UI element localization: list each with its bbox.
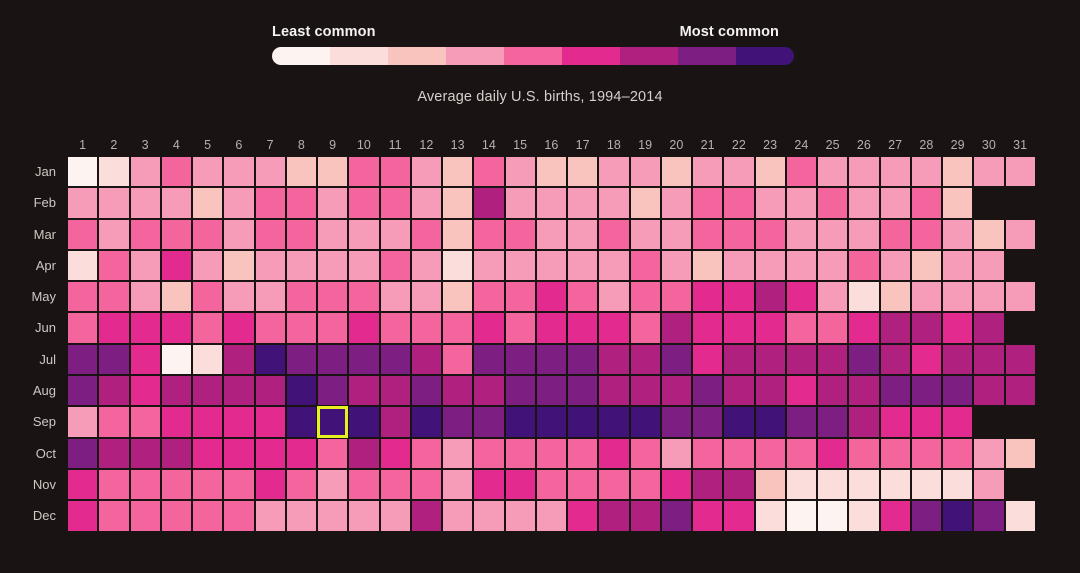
heatmap-cell-jun-2[interactable] xyxy=(98,312,129,343)
heatmap-cell-sep-15[interactable] xyxy=(505,406,536,437)
heatmap-cell-aug-11[interactable] xyxy=(380,375,411,406)
heatmap-cell-jan-26[interactable] xyxy=(848,156,879,187)
heatmap-cell-aug-30[interactable] xyxy=(973,375,1004,406)
heatmap-cell-aug-5[interactable] xyxy=(192,375,223,406)
heatmap-cell-mar-23[interactable] xyxy=(755,219,786,250)
heatmap-cell-aug-19[interactable] xyxy=(630,375,661,406)
heatmap-cell-mar-12[interactable] xyxy=(411,219,442,250)
heatmap-cell-jan-18[interactable] xyxy=(598,156,629,187)
heatmap-cell-jan-25[interactable] xyxy=(817,156,848,187)
heatmap-cell-dec-27[interactable] xyxy=(880,500,911,531)
heatmap-cell-jun-4[interactable] xyxy=(161,312,192,343)
heatmap-cell-jun-27[interactable] xyxy=(880,312,911,343)
heatmap-cell-apr-3[interactable] xyxy=(130,250,161,281)
heatmap-cell-jul-16[interactable] xyxy=(536,344,567,375)
heatmap-cell-jan-4[interactable] xyxy=(161,156,192,187)
heatmap-cell-feb-28[interactable] xyxy=(911,187,942,218)
heatmap-cell-jul-30[interactable] xyxy=(973,344,1004,375)
heatmap-cell-oct-13[interactable] xyxy=(442,438,473,469)
heatmap-cell-jun-16[interactable] xyxy=(536,312,567,343)
heatmap-cell-mar-8[interactable] xyxy=(286,219,317,250)
heatmap-cell-aug-22[interactable] xyxy=(723,375,754,406)
heatmap-cell-oct-3[interactable] xyxy=(130,438,161,469)
heatmap-cell-apr-20[interactable] xyxy=(661,250,692,281)
heatmap-cell-jun-30[interactable] xyxy=(973,312,1004,343)
heatmap-cell-nov-19[interactable] xyxy=(630,469,661,500)
heatmap-cell-mar-7[interactable] xyxy=(255,219,286,250)
heatmap-cell-mar-28[interactable] xyxy=(911,219,942,250)
heatmap-cell-sep-25[interactable] xyxy=(817,406,848,437)
heatmap-cell-apr-25[interactable] xyxy=(817,250,848,281)
heatmap-cell-mar-20[interactable] xyxy=(661,219,692,250)
heatmap-cell-apr-16[interactable] xyxy=(536,250,567,281)
heatmap-cell-nov-25[interactable] xyxy=(817,469,848,500)
heatmap-cell-dec-13[interactable] xyxy=(442,500,473,531)
heatmap-cell-may-25[interactable] xyxy=(817,281,848,312)
heatmap-cell-oct-27[interactable] xyxy=(880,438,911,469)
heatmap-cell-jun-11[interactable] xyxy=(380,312,411,343)
heatmap-cell-aug-13[interactable] xyxy=(442,375,473,406)
heatmap-cell-dec-9[interactable] xyxy=(317,500,348,531)
heatmap-cell-jul-18[interactable] xyxy=(598,344,629,375)
heatmap-cell-nov-29[interactable] xyxy=(942,469,973,500)
heatmap-cell-oct-22[interactable] xyxy=(723,438,754,469)
heatmap-cell-apr-1[interactable] xyxy=(67,250,98,281)
heatmap-cell-mar-19[interactable] xyxy=(630,219,661,250)
heatmap-cell-dec-19[interactable] xyxy=(630,500,661,531)
heatmap-cell-dec-26[interactable] xyxy=(848,500,879,531)
heatmap-cell-feb-17[interactable] xyxy=(567,187,598,218)
heatmap-cell-nov-5[interactable] xyxy=(192,469,223,500)
heatmap-cell-nov-3[interactable] xyxy=(130,469,161,500)
heatmap-cell-apr-9[interactable] xyxy=(317,250,348,281)
heatmap-cell-jun-10[interactable] xyxy=(348,312,379,343)
heatmap-cell-aug-3[interactable] xyxy=(130,375,161,406)
heatmap-cell-dec-30[interactable] xyxy=(973,500,1004,531)
heatmap-cell-feb-7[interactable] xyxy=(255,187,286,218)
heatmap-cell-jun-26[interactable] xyxy=(848,312,879,343)
heatmap-cell-jul-7[interactable] xyxy=(255,344,286,375)
heatmap-cell-sep-24[interactable] xyxy=(786,406,817,437)
heatmap-cell-aug-16[interactable] xyxy=(536,375,567,406)
heatmap-cell-oct-4[interactable] xyxy=(161,438,192,469)
heatmap-cell-jun-9[interactable] xyxy=(317,312,348,343)
heatmap-cell-nov-27[interactable] xyxy=(880,469,911,500)
heatmap-cell-dec-20[interactable] xyxy=(661,500,692,531)
heatmap-cell-dec-5[interactable] xyxy=(192,500,223,531)
heatmap-cell-oct-28[interactable] xyxy=(911,438,942,469)
heatmap-cell-feb-15[interactable] xyxy=(505,187,536,218)
heatmap-cell-dec-6[interactable] xyxy=(223,500,254,531)
heatmap-cell-dec-22[interactable] xyxy=(723,500,754,531)
heatmap-cell-dec-28[interactable] xyxy=(911,500,942,531)
heatmap-cell-jul-6[interactable] xyxy=(223,344,254,375)
heatmap-cell-jan-30[interactable] xyxy=(973,156,1004,187)
heatmap-cell-sep-27[interactable] xyxy=(880,406,911,437)
heatmap-cell-jan-8[interactable] xyxy=(286,156,317,187)
heatmap-cell-sep-10[interactable] xyxy=(348,406,379,437)
heatmap-cell-may-11[interactable] xyxy=(380,281,411,312)
heatmap-cell-apr-2[interactable] xyxy=(98,250,129,281)
heatmap-cell-oct-31[interactable] xyxy=(1005,438,1036,469)
heatmap-cell-sep-22[interactable] xyxy=(723,406,754,437)
heatmap-cell-jun-15[interactable] xyxy=(505,312,536,343)
heatmap-cell-sep-1[interactable] xyxy=(67,406,98,437)
heatmap-cell-mar-3[interactable] xyxy=(130,219,161,250)
heatmap-cell-oct-21[interactable] xyxy=(692,438,723,469)
heatmap-cell-sep-17[interactable] xyxy=(567,406,598,437)
heatmap-cell-feb-5[interactable] xyxy=(192,187,223,218)
heatmap-cell-may-6[interactable] xyxy=(223,281,254,312)
heatmap-cell-aug-8[interactable] xyxy=(286,375,317,406)
heatmap-cell-nov-9[interactable] xyxy=(317,469,348,500)
heatmap-cell-oct-17[interactable] xyxy=(567,438,598,469)
heatmap-cell-may-31[interactable] xyxy=(1005,281,1036,312)
heatmap-cell-jun-29[interactable] xyxy=(942,312,973,343)
heatmap-cell-apr-17[interactable] xyxy=(567,250,598,281)
heatmap-cell-nov-4[interactable] xyxy=(161,469,192,500)
heatmap-cell-jun-8[interactable] xyxy=(286,312,317,343)
heatmap-cell-oct-29[interactable] xyxy=(942,438,973,469)
heatmap-cell-sep-23[interactable] xyxy=(755,406,786,437)
heatmap-cell-feb-16[interactable] xyxy=(536,187,567,218)
heatmap-cell-nov-10[interactable] xyxy=(348,469,379,500)
heatmap-cell-jul-21[interactable] xyxy=(692,344,723,375)
heatmap-cell-apr-10[interactable] xyxy=(348,250,379,281)
heatmap-cell-aug-25[interactable] xyxy=(817,375,848,406)
heatmap-cell-aug-2[interactable] xyxy=(98,375,129,406)
heatmap-cell-jul-22[interactable] xyxy=(723,344,754,375)
heatmap-cell-may-15[interactable] xyxy=(505,281,536,312)
heatmap-cell-sep-5[interactable] xyxy=(192,406,223,437)
heatmap-cell-aug-24[interactable] xyxy=(786,375,817,406)
heatmap-cell-sep-28[interactable] xyxy=(911,406,942,437)
heatmap-cell-sep-13[interactable] xyxy=(442,406,473,437)
heatmap-cell-mar-11[interactable] xyxy=(380,219,411,250)
heatmap-cell-jun-6[interactable] xyxy=(223,312,254,343)
heatmap-cell-nov-18[interactable] xyxy=(598,469,629,500)
heatmap-cell-sep-12[interactable] xyxy=(411,406,442,437)
heatmap-cell-dec-15[interactable] xyxy=(505,500,536,531)
heatmap-cell-nov-23[interactable] xyxy=(755,469,786,500)
heatmap-cell-jan-19[interactable] xyxy=(630,156,661,187)
heatmap-cell-feb-20[interactable] xyxy=(661,187,692,218)
heatmap-cell-feb-9[interactable] xyxy=(317,187,348,218)
heatmap-cell-jul-29[interactable] xyxy=(942,344,973,375)
heatmap-cell-dec-31[interactable] xyxy=(1005,500,1036,531)
heatmap-cell-mar-17[interactable] xyxy=(567,219,598,250)
heatmap-cell-dec-1[interactable] xyxy=(67,500,98,531)
heatmap-cell-mar-30[interactable] xyxy=(973,219,1004,250)
heatmap-cell-nov-6[interactable] xyxy=(223,469,254,500)
heatmap-cell-jul-11[interactable] xyxy=(380,344,411,375)
heatmap-cell-dec-24[interactable] xyxy=(786,500,817,531)
heatmap-cell-highlighted[interactable] xyxy=(317,406,348,437)
heatmap-cell-may-3[interactable] xyxy=(130,281,161,312)
heatmap-cell-feb-6[interactable] xyxy=(223,187,254,218)
heatmap-cell-jan-21[interactable] xyxy=(692,156,723,187)
heatmap-cell-oct-10[interactable] xyxy=(348,438,379,469)
heatmap-cell-jul-26[interactable] xyxy=(848,344,879,375)
heatmap-cell-dec-7[interactable] xyxy=(255,500,286,531)
heatmap-cell-mar-29[interactable] xyxy=(942,219,973,250)
heatmap-cell-aug-14[interactable] xyxy=(473,375,504,406)
heatmap-cell-jan-12[interactable] xyxy=(411,156,442,187)
heatmap-cell-apr-21[interactable] xyxy=(692,250,723,281)
heatmap-cell-jan-2[interactable] xyxy=(98,156,129,187)
heatmap-cell-mar-14[interactable] xyxy=(473,219,504,250)
heatmap-cell-may-1[interactable] xyxy=(67,281,98,312)
heatmap-cell-apr-27[interactable] xyxy=(880,250,911,281)
heatmap-cell-feb-29[interactable] xyxy=(942,187,973,218)
heatmap-cell-jun-21[interactable] xyxy=(692,312,723,343)
heatmap-cell-apr-8[interactable] xyxy=(286,250,317,281)
heatmap-cell-oct-24[interactable] xyxy=(786,438,817,469)
heatmap-cell-apr-4[interactable] xyxy=(161,250,192,281)
heatmap-cell-nov-30[interactable] xyxy=(973,469,1004,500)
heatmap-cell-sep-2[interactable] xyxy=(98,406,129,437)
heatmap-cell-jun-14[interactable] xyxy=(473,312,504,343)
heatmap-cell-dec-4[interactable] xyxy=(161,500,192,531)
heatmap-cell-feb-27[interactable] xyxy=(880,187,911,218)
heatmap-cell-feb-1[interactable] xyxy=(67,187,98,218)
heatmap-cell-may-2[interactable] xyxy=(98,281,129,312)
heatmap-cell-jan-31[interactable] xyxy=(1005,156,1036,187)
heatmap-cell-dec-21[interactable] xyxy=(692,500,723,531)
heatmap-cell-may-23[interactable] xyxy=(755,281,786,312)
heatmap-cell-sep-4[interactable] xyxy=(161,406,192,437)
heatmap-cell-jul-28[interactable] xyxy=(911,344,942,375)
heatmap-cell-sep-11[interactable] xyxy=(380,406,411,437)
heatmap-cell-feb-11[interactable] xyxy=(380,187,411,218)
heatmap-cell-apr-23[interactable] xyxy=(755,250,786,281)
heatmap-cell-jul-19[interactable] xyxy=(630,344,661,375)
heatmap-cell-feb-8[interactable] xyxy=(286,187,317,218)
heatmap-cell-apr-30[interactable] xyxy=(973,250,1004,281)
heatmap-cell-apr-15[interactable] xyxy=(505,250,536,281)
heatmap-cell-jul-3[interactable] xyxy=(130,344,161,375)
heatmap-cell-oct-5[interactable] xyxy=(192,438,223,469)
heatmap-cell-jan-28[interactable] xyxy=(911,156,942,187)
heatmap-cell-apr-11[interactable] xyxy=(380,250,411,281)
heatmap-cell-sep-19[interactable] xyxy=(630,406,661,437)
heatmap-cell-oct-8[interactable] xyxy=(286,438,317,469)
heatmap-cell-jul-1[interactable] xyxy=(67,344,98,375)
heatmap-cell-jun-13[interactable] xyxy=(442,312,473,343)
heatmap-cell-aug-26[interactable] xyxy=(848,375,879,406)
heatmap-cell-nov-15[interactable] xyxy=(505,469,536,500)
heatmap-cell-jun-25[interactable] xyxy=(817,312,848,343)
heatmap-cell-jan-29[interactable] xyxy=(942,156,973,187)
heatmap-cell-jun-28[interactable] xyxy=(911,312,942,343)
heatmap-cell-oct-19[interactable] xyxy=(630,438,661,469)
heatmap-cell-aug-15[interactable] xyxy=(505,375,536,406)
heatmap-cell-apr-18[interactable] xyxy=(598,250,629,281)
heatmap-cell-sep-29[interactable] xyxy=(942,406,973,437)
heatmap-cell-jul-17[interactable] xyxy=(567,344,598,375)
heatmap-cell-dec-18[interactable] xyxy=(598,500,629,531)
heatmap-cell-oct-15[interactable] xyxy=(505,438,536,469)
heatmap-cell-feb-18[interactable] xyxy=(598,187,629,218)
heatmap-cell-nov-1[interactable] xyxy=(67,469,98,500)
heatmap-cell-may-7[interactable] xyxy=(255,281,286,312)
heatmap-cell-dec-2[interactable] xyxy=(98,500,129,531)
heatmap-cell-mar-2[interactable] xyxy=(98,219,129,250)
heatmap-cell-jul-12[interactable] xyxy=(411,344,442,375)
heatmap-cell-aug-1[interactable] xyxy=(67,375,98,406)
heatmap-cell-jul-20[interactable] xyxy=(661,344,692,375)
heatmap-cell-may-20[interactable] xyxy=(661,281,692,312)
heatmap-cell-jun-19[interactable] xyxy=(630,312,661,343)
heatmap-cell-jul-10[interactable] xyxy=(348,344,379,375)
heatmap-cell-feb-13[interactable] xyxy=(442,187,473,218)
heatmap-cell-oct-25[interactable] xyxy=(817,438,848,469)
heatmap-cell-aug-21[interactable] xyxy=(692,375,723,406)
heatmap-cell-jan-1[interactable] xyxy=(67,156,98,187)
heatmap-cell-feb-22[interactable] xyxy=(723,187,754,218)
heatmap-cell-jul-15[interactable] xyxy=(505,344,536,375)
heatmap-cell-feb-12[interactable] xyxy=(411,187,442,218)
heatmap-cell-jul-25[interactable] xyxy=(817,344,848,375)
heatmap-cell-oct-6[interactable] xyxy=(223,438,254,469)
heatmap-cell-oct-18[interactable] xyxy=(598,438,629,469)
heatmap-cell-may-12[interactable] xyxy=(411,281,442,312)
heatmap-cell-nov-22[interactable] xyxy=(723,469,754,500)
heatmap-cell-mar-5[interactable] xyxy=(192,219,223,250)
heatmap-cell-jun-7[interactable] xyxy=(255,312,286,343)
heatmap-cell-jul-14[interactable] xyxy=(473,344,504,375)
heatmap-cell-mar-21[interactable] xyxy=(692,219,723,250)
heatmap-cell-may-14[interactable] xyxy=(473,281,504,312)
heatmap-cell-sep-20[interactable] xyxy=(661,406,692,437)
heatmap-cell-sep-7[interactable] xyxy=(255,406,286,437)
heatmap-cell-mar-22[interactable] xyxy=(723,219,754,250)
heatmap-cell-oct-14[interactable] xyxy=(473,438,504,469)
heatmap-cell-jan-17[interactable] xyxy=(567,156,598,187)
heatmap-cell-jul-5[interactable] xyxy=(192,344,223,375)
heatmap-cell-sep-16[interactable] xyxy=(536,406,567,437)
heatmap-cell-dec-12[interactable] xyxy=(411,500,442,531)
heatmap-cell-feb-14[interactable] xyxy=(473,187,504,218)
heatmap-cell-feb-10[interactable] xyxy=(348,187,379,218)
heatmap-cell-aug-7[interactable] xyxy=(255,375,286,406)
heatmap-cell-jan-7[interactable] xyxy=(255,156,286,187)
heatmap-cell-aug-23[interactable] xyxy=(755,375,786,406)
heatmap-cell-jun-24[interactable] xyxy=(786,312,817,343)
heatmap-cell-apr-29[interactable] xyxy=(942,250,973,281)
heatmap-cell-may-29[interactable] xyxy=(942,281,973,312)
heatmap-cell-jul-23[interactable] xyxy=(755,344,786,375)
heatmap-cell-may-9[interactable] xyxy=(317,281,348,312)
heatmap-cell-may-16[interactable] xyxy=(536,281,567,312)
heatmap-cell-sep-3[interactable] xyxy=(130,406,161,437)
heatmap-cell-nov-20[interactable] xyxy=(661,469,692,500)
heatmap-cell-may-18[interactable] xyxy=(598,281,629,312)
heatmap-cell-jan-22[interactable] xyxy=(723,156,754,187)
heatmap-cell-feb-4[interactable] xyxy=(161,187,192,218)
heatmap-cell-apr-22[interactable] xyxy=(723,250,754,281)
heatmap-cell-dec-14[interactable] xyxy=(473,500,504,531)
heatmap-cell-dec-29[interactable] xyxy=(942,500,973,531)
heatmap-cell-mar-4[interactable] xyxy=(161,219,192,250)
heatmap-cell-feb-3[interactable] xyxy=(130,187,161,218)
heatmap-cell-oct-1[interactable] xyxy=(67,438,98,469)
heatmap-cell-oct-11[interactable] xyxy=(380,438,411,469)
heatmap-cell-nov-17[interactable] xyxy=(567,469,598,500)
heatmap-cell-mar-24[interactable] xyxy=(786,219,817,250)
heatmap-cell-nov-14[interactable] xyxy=(473,469,504,500)
heatmap-cell-apr-13[interactable] xyxy=(442,250,473,281)
heatmap-cell-jul-8[interactable] xyxy=(286,344,317,375)
heatmap-cell-jan-23[interactable] xyxy=(755,156,786,187)
heatmap-cell-dec-3[interactable] xyxy=(130,500,161,531)
heatmap-cell-jan-14[interactable] xyxy=(473,156,504,187)
heatmap-cell-sep-6[interactable] xyxy=(223,406,254,437)
heatmap-cell-oct-2[interactable] xyxy=(98,438,129,469)
heatmap-cell-sep-18[interactable] xyxy=(598,406,629,437)
heatmap-cell-oct-23[interactable] xyxy=(755,438,786,469)
heatmap-cell-aug-12[interactable] xyxy=(411,375,442,406)
heatmap-cell-sep-21[interactable] xyxy=(692,406,723,437)
heatmap-cell-aug-6[interactable] xyxy=(223,375,254,406)
heatmap-cell-mar-26[interactable] xyxy=(848,219,879,250)
heatmap-cell-dec-25[interactable] xyxy=(817,500,848,531)
heatmap-cell-nov-21[interactable] xyxy=(692,469,723,500)
heatmap-cell-nov-2[interactable] xyxy=(98,469,129,500)
heatmap-cell-jun-20[interactable] xyxy=(661,312,692,343)
heatmap-cell-jan-24[interactable] xyxy=(786,156,817,187)
heatmap-cell-dec-23[interactable] xyxy=(755,500,786,531)
heatmap-cell-aug-29[interactable] xyxy=(942,375,973,406)
heatmap-cell-mar-16[interactable] xyxy=(536,219,567,250)
heatmap-cell-apr-6[interactable] xyxy=(223,250,254,281)
heatmap-cell-may-5[interactable] xyxy=(192,281,223,312)
heatmap-cell-jul-31[interactable] xyxy=(1005,344,1036,375)
heatmap-cell-dec-17[interactable] xyxy=(567,500,598,531)
heatmap-cell-nov-26[interactable] xyxy=(848,469,879,500)
heatmap-cell-jun-3[interactable] xyxy=(130,312,161,343)
heatmap-cell-jan-27[interactable] xyxy=(880,156,911,187)
heatmap-cell-mar-27[interactable] xyxy=(880,219,911,250)
heatmap-cell-may-27[interactable] xyxy=(880,281,911,312)
heatmap-cell-may-13[interactable] xyxy=(442,281,473,312)
heatmap-cell-may-10[interactable] xyxy=(348,281,379,312)
heatmap-cell-oct-9[interactable] xyxy=(317,438,348,469)
heatmap-cell-nov-12[interactable] xyxy=(411,469,442,500)
heatmap-cell-aug-17[interactable] xyxy=(567,375,598,406)
heatmap-cell-jun-23[interactable] xyxy=(755,312,786,343)
heatmap-cell-apr-26[interactable] xyxy=(848,250,879,281)
heatmap-cell-oct-26[interactable] xyxy=(848,438,879,469)
heatmap-cell-mar-18[interactable] xyxy=(598,219,629,250)
heatmap-cell-jul-13[interactable] xyxy=(442,344,473,375)
heatmap-cell-aug-10[interactable] xyxy=(348,375,379,406)
heatmap-cell-aug-9[interactable] xyxy=(317,375,348,406)
heatmap-cell-aug-4[interactable] xyxy=(161,375,192,406)
heatmap-cell-jun-17[interactable] xyxy=(567,312,598,343)
heatmap-cell-dec-10[interactable] xyxy=(348,500,379,531)
heatmap-cell-nov-28[interactable] xyxy=(911,469,942,500)
heatmap-cell-oct-7[interactable] xyxy=(255,438,286,469)
heatmap-cell-aug-18[interactable] xyxy=(598,375,629,406)
heatmap-cell-jan-6[interactable] xyxy=(223,156,254,187)
heatmap-cell-nov-13[interactable] xyxy=(442,469,473,500)
heatmap-cell-oct-20[interactable] xyxy=(661,438,692,469)
heatmap-cell-nov-16[interactable] xyxy=(536,469,567,500)
heatmap-cell-aug-28[interactable] xyxy=(911,375,942,406)
heatmap-cell-jun-12[interactable] xyxy=(411,312,442,343)
heatmap-cell-may-30[interactable] xyxy=(973,281,1004,312)
